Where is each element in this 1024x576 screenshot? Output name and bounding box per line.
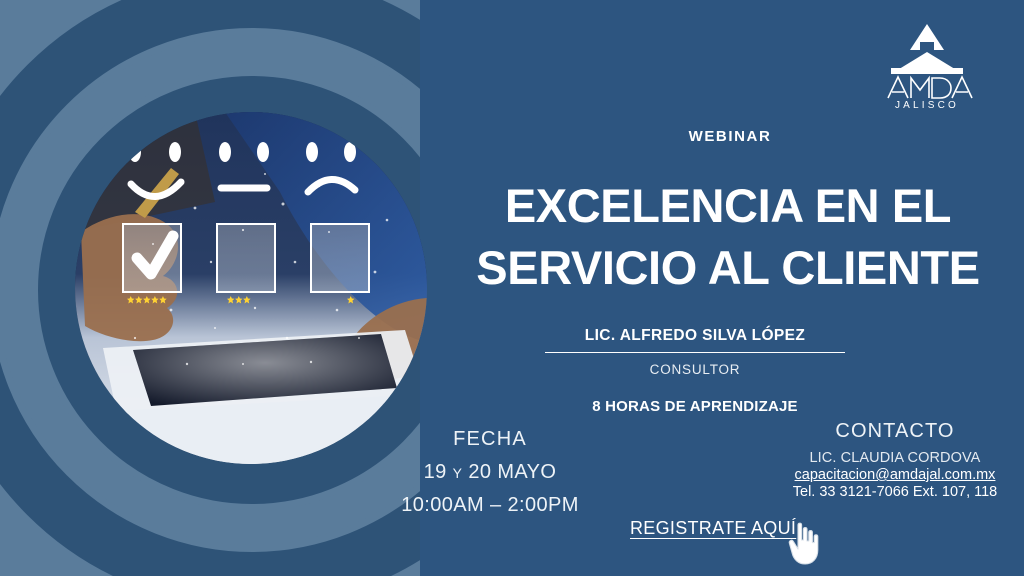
amda-triangle-icon — [910, 24, 944, 50]
date-days-conjunction: Y — [453, 465, 463, 481]
contact-name: LIC. CLAUDIA CORDOVA — [770, 450, 1020, 466]
date-days: 19 Y 20 MAYO — [360, 461, 620, 484]
speaker-role: CONSULTOR — [545, 362, 845, 377]
learning-hours: 8 HORAS DE APRENDIZAJE — [545, 398, 845, 415]
date-days-suffix: 20 MAYO — [468, 461, 556, 483]
title-line-1: EXCELENCIA EN EL — [436, 175, 1020, 237]
contact-heading: CONTACTO — [770, 420, 1020, 443]
hero-photo — [75, 112, 427, 464]
date-time: 10:00AM – 2:00PM — [360, 494, 620, 517]
date-block: FECHA 19 Y 20 MAYO 10:00AM – 2:00PM — [360, 428, 620, 517]
contact-phone: Tel. 33 3121-7066 Ext. 107, 118 — [770, 484, 1020, 500]
date-heading: FECHA — [360, 428, 620, 451]
pointing-hand-cursor-icon — [782, 520, 826, 568]
contact-email-link[interactable]: capacitacion@amdajal.com.mx — [770, 467, 1020, 483]
amda-jalisco-logo: JALISCO — [868, 18, 986, 110]
date-days-prefix: 19 — [424, 461, 447, 483]
page-title: EXCELENCIA EN EL SERVICIO AL CLIENTE — [436, 175, 1020, 299]
speaker-name: LIC. ALFREDO SILVA LÓPEZ — [545, 327, 845, 353]
register-link[interactable]: REGISTRATE AQUÍ — [630, 518, 796, 539]
title-line-2: SERVICIO AL CLIENTE — [436, 237, 1020, 299]
contact-block: CONTACTO LIC. CLAUDIA CORDOVA capacitaci… — [770, 420, 1020, 500]
eyebrow-label: WEBINAR — [440, 128, 1020, 145]
webinar-poster: JALISCO WEBINAR EXCELENCIA EN EL SERVICI… — [0, 0, 1024, 576]
speaker-block: LIC. ALFREDO SILVA LÓPEZ CONSULTOR — [545, 327, 845, 377]
register-cta[interactable]: REGISTRATE AQUÍ — [630, 518, 826, 568]
rating-cards — [123, 224, 369, 292]
hero-photo-illustration — [75, 112, 427, 464]
logo-region-text: JALISCO — [895, 100, 959, 110]
